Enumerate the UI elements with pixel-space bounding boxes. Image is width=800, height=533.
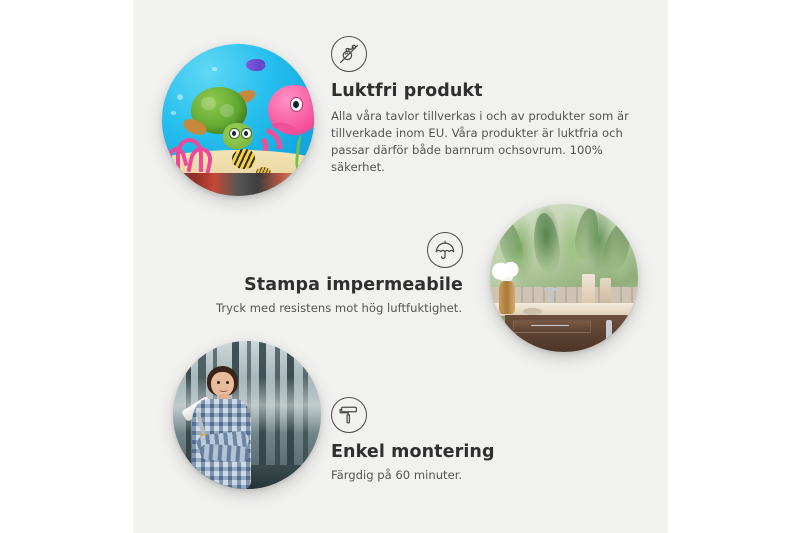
feature-icon-row (215, 232, 463, 268)
turtle-eye (229, 128, 240, 139)
woman-smile (219, 388, 228, 392)
feature-body: Tryck med resistens mot hög luftfuktighe… (215, 300, 463, 317)
no-odour-spray-bottle-icon (331, 36, 367, 72)
turtle-eye (241, 128, 252, 139)
cabinet-handle (606, 320, 612, 340)
gold-vase (499, 281, 515, 314)
bathroom-artwork (490, 204, 638, 352)
photo-bottom-strip (162, 173, 314, 196)
product-image-bathroom (490, 204, 638, 352)
woman-eye (217, 381, 221, 384)
feature-title: Luktfri produkt (331, 81, 631, 103)
feature-body: Färgdig på 60 minuter. (331, 467, 591, 484)
feature-title: Enkel montering (331, 442, 591, 464)
purple-fish (246, 59, 266, 71)
toiletry-bottle (600, 278, 612, 306)
feature-title: Stampa impermeabile (215, 275, 463, 297)
wooden-vanity (505, 315, 638, 352)
woman-eye (226, 381, 230, 384)
drawer-handle (531, 325, 569, 326)
soap-dish (523, 308, 542, 315)
feature-waterproof: Stampa impermeabile Tryck med resistens … (215, 232, 463, 317)
feature-odourless: Luktfri produkt Alla våra tavlor tillver… (331, 36, 631, 177)
sea-artwork (162, 44, 314, 196)
water-bubble-icon (212, 67, 217, 72)
product-image-painter (173, 341, 321, 489)
feature-easy-assembly: Enkel montering Färgdig på 60 minuter. (331, 397, 591, 484)
umbrella-icon (427, 232, 463, 268)
water-bubble-icon (171, 111, 176, 116)
striped-fish (232, 149, 255, 169)
product-image-sea (162, 44, 314, 196)
paint-roller-icon (331, 397, 367, 433)
infographic-stage: Luktfri produkt Alla våra tavlor tillver… (0, 0, 800, 533)
feature-body: Alla våra tavlor tillverkas i och av pro… (331, 108, 631, 177)
woman-arm (199, 443, 249, 463)
painter-artwork (173, 341, 321, 489)
toiletry-bottle (582, 274, 595, 307)
